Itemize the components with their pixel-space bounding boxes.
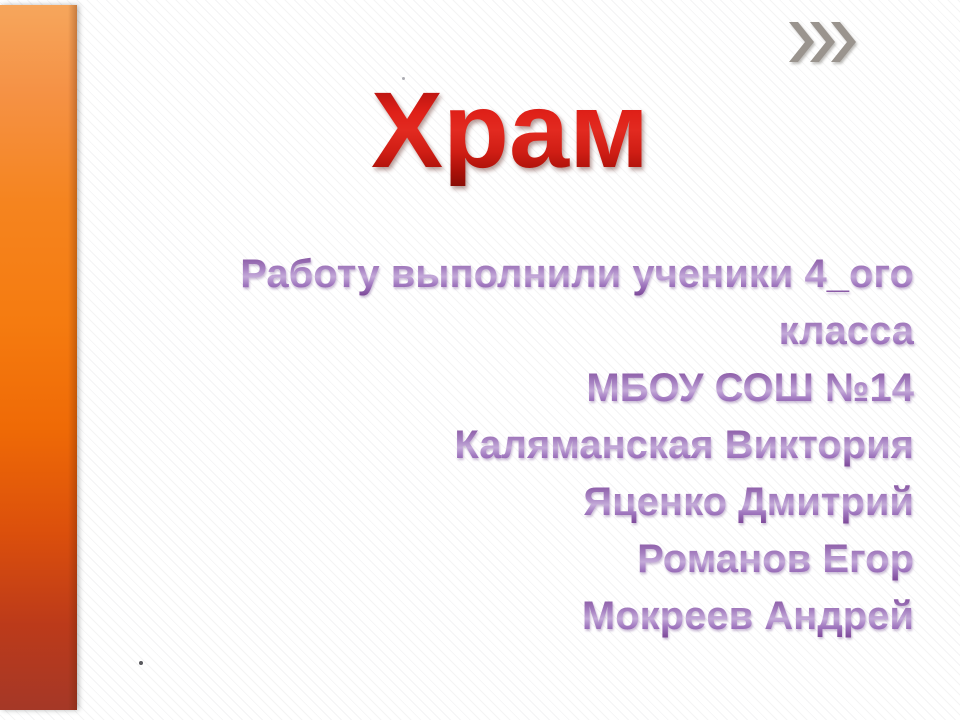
triple-chevron-right-icon <box>788 18 860 68</box>
subtitle-line: класса <box>150 303 914 360</box>
subtitle-line: Каляманская Виктория <box>150 417 914 474</box>
speck-mark <box>139 661 143 665</box>
page-title: Храм <box>100 74 920 186</box>
subtitle-line: Работу выполнили ученики 4_ого <box>150 246 914 303</box>
presentation-slide: Храм Работу выполнили ученики 4_ого клас… <box>0 0 960 720</box>
subtitle-line: Романов Егор <box>150 531 914 588</box>
orange-gradient-bar <box>0 5 77 710</box>
subtitle-line: Мокреев Андрей <box>150 588 914 645</box>
subtitle-line: МБОУ СОШ №14 <box>150 360 914 417</box>
speck-mark <box>402 77 405 80</box>
subtitle-block: Работу выполнили ученики 4_ого класса МБ… <box>150 246 914 645</box>
subtitle-line: Яценко Дмитрий <box>150 474 914 531</box>
